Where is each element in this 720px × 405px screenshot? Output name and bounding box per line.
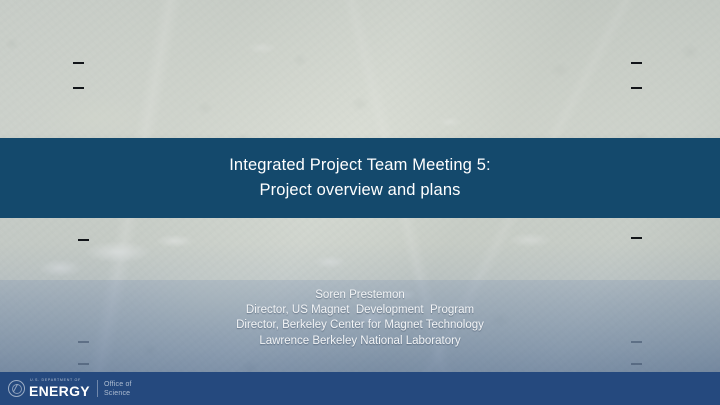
- title-line-2: Project overview and plans: [259, 178, 460, 203]
- presenter-affiliation: Lawrence Berkeley National Laboratory: [0, 334, 720, 349]
- title-line-1: Integrated Project Team Meeting 5:: [229, 153, 491, 178]
- presenter-role-1: Director, US Magnet Development Program: [0, 303, 720, 318]
- dash-mark-3: [631, 62, 642, 64]
- office-line-2: Science: [104, 389, 132, 398]
- dash-mark-5: [78, 239, 89, 241]
- office-of-science-label: Office of Science: [104, 380, 132, 398]
- presenter-role-2: Director, Berkeley Center for Magnet Tec…: [0, 318, 720, 333]
- presenter-name: Soren Prestemon: [0, 288, 720, 303]
- dash-mark-8: [78, 363, 89, 365]
- doe-seal-icon: [8, 380, 25, 397]
- logo-divider: [97, 380, 98, 397]
- title-band: Integrated Project Team Meeting 5: Proje…: [0, 138, 720, 218]
- subtitle-block: Soren Prestemon Director, US Magnet Deve…: [0, 288, 720, 349]
- dash-mark-4: [631, 87, 642, 89]
- dash-mark-6: [631, 237, 642, 239]
- office-line-1: Office of: [104, 380, 132, 389]
- doe-wordmark: U.S. DEPARTMENT OF ENERGY: [29, 379, 90, 398]
- dash-mark-1: [73, 62, 84, 64]
- doe-logo: U.S. DEPARTMENT OF ENERGY Office of Scie…: [8, 379, 132, 398]
- dash-mark-2: [73, 87, 84, 89]
- doe-energy-label: ENERGY: [29, 384, 90, 398]
- footer-bar: U.S. DEPARTMENT OF ENERGY Office of Scie…: [0, 372, 720, 405]
- presentation-slide: Integrated Project Team Meeting 5: Proje…: [0, 0, 720, 405]
- dash-mark-10: [631, 363, 642, 365]
